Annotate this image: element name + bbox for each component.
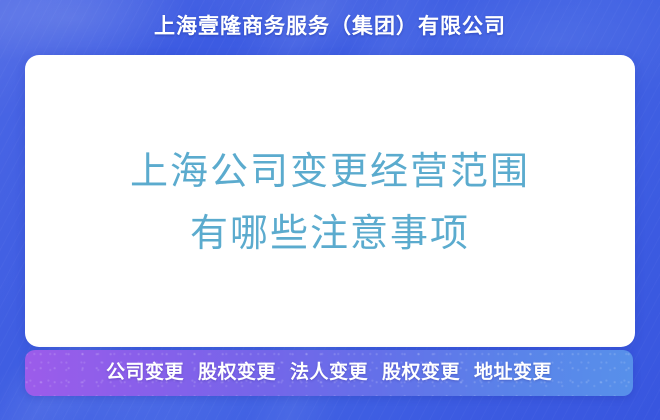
- tag-item-address-change[interactable]: 地址变更: [474, 361, 552, 385]
- headline-line-2: 有哪些注意事项: [25, 203, 635, 265]
- tag-bar: 公司变更 股权变更 法人变更 股权变更 地址变更: [25, 350, 633, 396]
- tag-item-legal-rep-change[interactable]: 法人变更: [290, 361, 368, 385]
- tag-item-equity-change[interactable]: 股权变更: [198, 361, 276, 385]
- headline-block: 上海公司变更经营范围 有哪些注意事项: [25, 141, 635, 265]
- content-card: 上海公司变更经营范围 有哪些注意事项: [25, 55, 635, 347]
- headline-line-1: 上海公司变更经营范围: [25, 141, 635, 203]
- poster-canvas: 上海壹隆商务服务（集团）有限公司 上海公司变更经营范围 有哪些注意事项 公司变更…: [0, 0, 660, 420]
- tag-list: 公司变更 股权变更 法人变更 股权变更 地址变更: [106, 361, 552, 385]
- company-header-title: 上海壹隆商务服务（集团）有限公司: [0, 13, 660, 41]
- tag-item-equity-change-2[interactable]: 股权变更: [382, 361, 460, 385]
- tag-item-company-change[interactable]: 公司变更: [106, 361, 184, 385]
